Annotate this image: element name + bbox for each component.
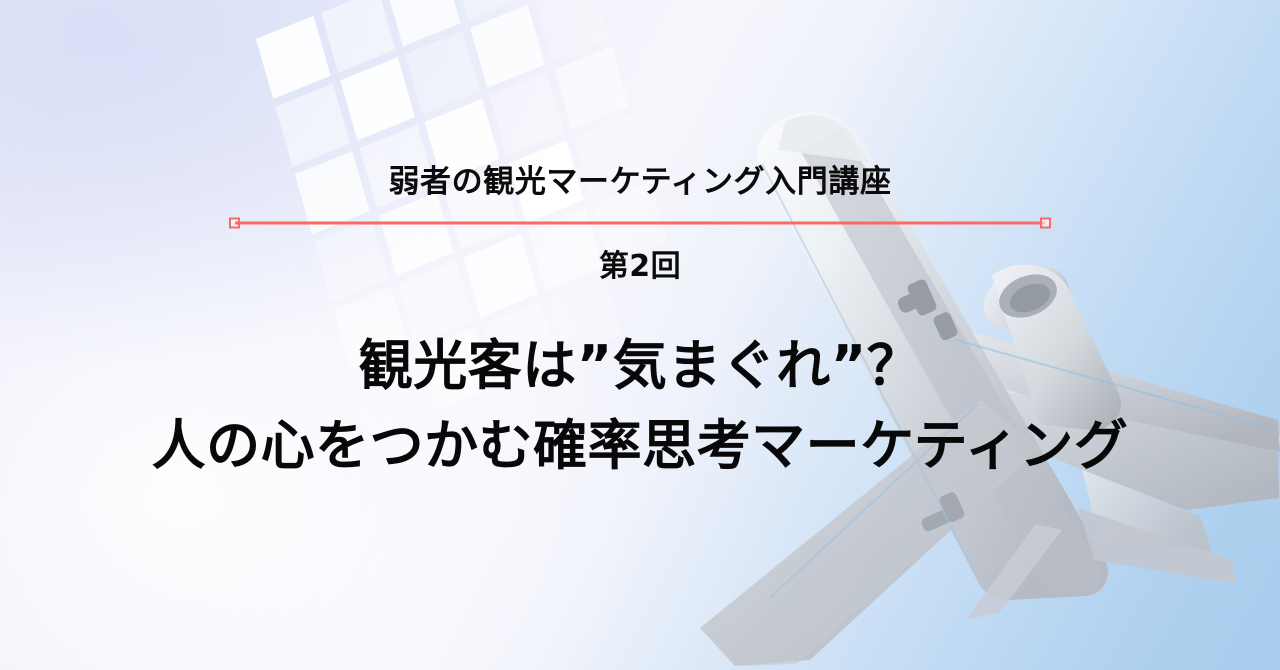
headline-line-2: 人の心をつかむ確率思考マーケティング bbox=[152, 411, 1129, 481]
series-title: 弱者の観光マーケティング入門講座 bbox=[388, 165, 891, 201]
divider-cap-right-icon bbox=[1040, 217, 1051, 228]
episode-number: 第2回 bbox=[599, 241, 681, 285]
title-divider bbox=[229, 217, 1051, 229]
main-headline: 観光客は”気まぐれ”？ 人の心をつかむ確率思考マーケティング bbox=[152, 331, 1129, 481]
promo-banner: 弱者の観光マーケティング入門講座 第2回 観光客は”気まぐれ”？ 人の心をつかむ… bbox=[0, 0, 1280, 670]
banner-content: 弱者の観光マーケティング入門講座 第2回 観光客は”気まぐれ”？ 人の心をつかむ… bbox=[0, 0, 1280, 670]
headline-line-1: 観光客は”気まぐれ”？ bbox=[152, 331, 1129, 401]
divider-line bbox=[235, 221, 1045, 224]
